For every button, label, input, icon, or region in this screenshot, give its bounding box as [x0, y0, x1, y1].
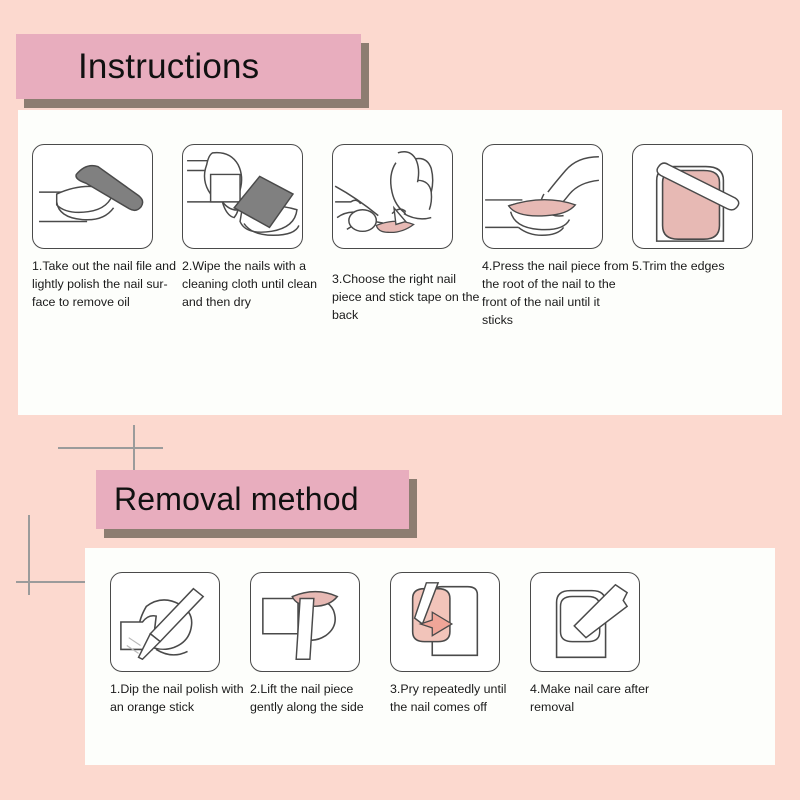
dip-orange-stick-icon: [110, 572, 220, 672]
removal-panel: 1.Dip the nail polish with an orange sti…: [85, 548, 775, 765]
removal-step-1: 1.Dip the nail polish with an orange sti…: [110, 572, 250, 717]
removal-step-2-text: 2.Lift the nail piece gently along the s…: [250, 681, 387, 717]
instructions-steps: 1.Take out the nail file and lightly pol…: [32, 144, 780, 330]
removal-step-3: 3.Pry repeatedly until the nail comes of…: [390, 572, 530, 717]
instruction-step-1: 1.Take out the nail file and lightly pol…: [32, 144, 182, 330]
removal-banner: Removal method: [96, 470, 409, 529]
crosshair-vertical-line: [28, 515, 30, 595]
choose-nail-piece-icon: [332, 144, 453, 249]
pry-nail-icon: [390, 572, 500, 672]
lift-nail-piece-icon: [250, 572, 360, 672]
removal-steps: 1.Dip the nail polish with an orange sti…: [110, 572, 760, 717]
instruction-step-5: 5.Trim the edges: [632, 144, 782, 330]
removal-title: Removal method: [96, 470, 409, 529]
instruction-step-3: 3.Choose the right nail piece and stick …: [332, 144, 482, 330]
crosshair-horizontal-line: [58, 447, 163, 449]
instruction-step-2-text: 2.Wipe the nails with a cleaning cloth u…: [182, 258, 332, 312]
instruction-step-3-text: 3.Choose the right nail piece and stick …: [332, 271, 482, 325]
instructions-banner: Instructions: [16, 34, 361, 99]
instruction-step-4-text: 4.Press the nail piece from the root of …: [482, 258, 632, 330]
cleaning-cloth-icon: [182, 144, 303, 249]
removal-step-4-text: 4.Make nail care after removal: [530, 681, 667, 717]
trim-edges-icon: [632, 144, 753, 249]
instruction-step-1-text: 1.Take out the nail file and lightly pol…: [32, 258, 182, 312]
instructions-title: Instructions: [16, 34, 361, 99]
removal-step-1-text: 1.Dip the nail polish with an orange sti…: [110, 681, 247, 717]
instructions-panel: 1.Take out the nail file and lightly pol…: [18, 110, 782, 415]
press-nail-piece-icon: [482, 144, 603, 249]
nail-file-polish-icon: [32, 144, 153, 249]
nail-care-icon: [530, 572, 640, 672]
removal-step-4: 4.Make nail care after removal: [530, 572, 670, 717]
removal-step-2: 2.Lift the nail piece gently along the s…: [250, 572, 390, 717]
instruction-step-4: 4.Press the nail piece from the root of …: [482, 144, 632, 330]
instruction-step-2: 2.Wipe the nails with a cleaning cloth u…: [182, 144, 332, 330]
instruction-sheet: Instructions 1.Take out the na: [0, 0, 800, 800]
instruction-step-5-text: 5.Trim the edges: [632, 258, 782, 276]
removal-step-3-text: 3.Pry repeatedly until the nail comes of…: [390, 681, 527, 717]
